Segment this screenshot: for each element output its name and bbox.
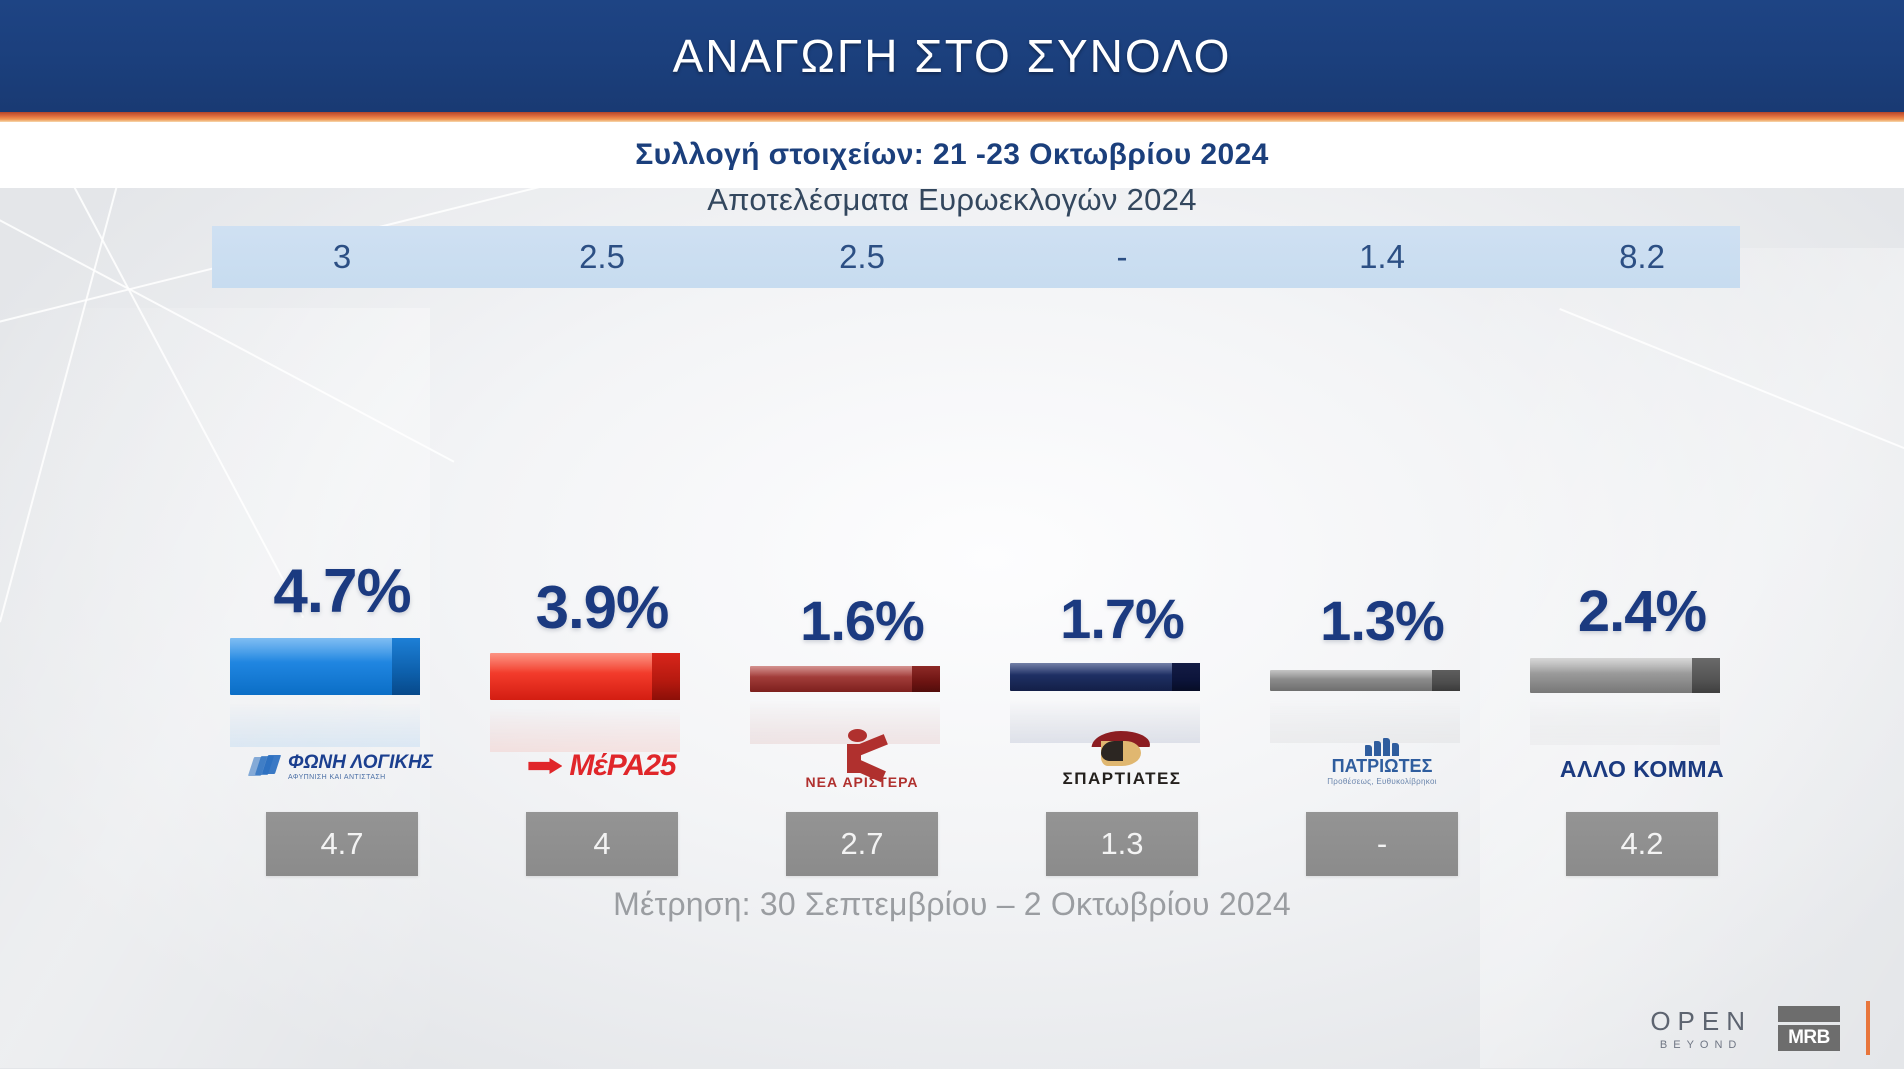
previous-value-1: 4	[526, 812, 678, 876]
party-logo-foni-logikis: ΦΩΝΗ ΛΟΓΙΚΗΣ ΑΦΥΠΝΙΣΗ ΚΑΙ ΑΝΤΙΣΤΑΣΗ	[212, 743, 472, 789]
beyond-logo-text: BEYOND	[1660, 1039, 1742, 1051]
chart-stage: Αποτελέσματα Ευρωεκλογών 2024 3 2.5 2.5 …	[0, 188, 1904, 1069]
fonilogikis-icon	[251, 755, 281, 777]
header-band: ΑΝΑΓΩΓΗ ΣΤΟ ΣΥΝΟΛΟ	[0, 0, 1904, 112]
bar-cap	[1172, 663, 1200, 691]
subheader-band: Συλλογή στοιχείων: 21 -23 Οκτωβρίου 2024	[0, 122, 1904, 188]
party-name-4: ΠΑΤΡΙΩΤΕΣ	[1332, 756, 1433, 777]
bar-5	[1530, 658, 1720, 693]
patriotes-flags-icon	[1365, 738, 1399, 756]
previous-value-5: 4.2	[1566, 812, 1718, 876]
bar-reflection	[230, 695, 420, 747]
bar-cap	[1432, 670, 1460, 691]
bar-cap	[392, 638, 420, 695]
measurement-note: Μέτρηση: 30 Σεπτεμβρίου – 2 Οκτωβρίου 20…	[0, 886, 1904, 923]
nea-aristera-figure-icon	[835, 729, 889, 773]
bar-4	[1270, 670, 1460, 691]
previous-value-0: 4.7	[266, 812, 418, 876]
percent-value-0: 4.7%	[212, 556, 472, 627]
party-logo-patriotes: ΠΑΤΡΙΩΤΕΣ Προθέσεως, Ευθυκολίβρηκοι	[1252, 733, 1512, 791]
bg-line	[0, 188, 120, 622]
party-name-5: ΑΛΛΟ ΚΟΜΜΑ	[1560, 756, 1724, 783]
party-logo-nea-aristera: ΝΕΑ ΑΡΙΣΤΕΡΑ	[732, 728, 992, 790]
euro-value-0: 3	[212, 226, 472, 288]
collection-dates: Συλλογή στοιχείων: 21 -23 Οκτωβρίου 2024	[635, 138, 1269, 172]
euro-value-2: 2.5	[732, 226, 992, 288]
euro-results-caption: Αποτελέσματα Ευρωεκλογών 2024	[0, 188, 1904, 218]
percent-value-5: 2.4%	[1512, 578, 1772, 645]
party-name-3: ΣΠΑΡΤΙΑΤΕΣ	[1063, 769, 1182, 789]
mrb-logo: MRB	[1778, 1006, 1840, 1051]
euro-value-1: 2.5	[472, 226, 732, 288]
party-subtitle-0: ΑΦΥΠΝΙΣΗ ΚΑΙ ΑΝΤΙΣΤΑΣΗ	[288, 774, 386, 781]
bar-0	[230, 638, 420, 695]
party-logo-mera25: ΜέΡΑ25	[472, 743, 732, 789]
party-logo-spartiates: ΣΠΑΡΤΙΑΤΕΣ	[992, 728, 1252, 790]
percent-value-1: 3.9%	[472, 573, 732, 642]
party-name-0: ΦΩΝΗ ΛΟΓΙΚΗΣ	[288, 752, 433, 774]
percent-value-2: 1.6%	[732, 588, 992, 653]
percent-value-4: 1.3%	[1252, 588, 1512, 653]
bar-cap	[912, 666, 940, 692]
bar-2	[750, 666, 940, 692]
mrb-logo-bar	[1778, 1006, 1840, 1022]
footer-accent-rule	[1866, 1001, 1870, 1055]
euro-value-3: -	[992, 226, 1252, 288]
bg-line	[1559, 308, 1904, 467]
party-logo-allo-komma: ΑΛΛΟ ΚΟΜΜΑ	[1512, 746, 1772, 792]
mrb-logo-text: MRB	[1778, 1025, 1840, 1051]
spartiates-helmet-icon	[1091, 730, 1153, 768]
euro-value-5: 8.2	[1512, 226, 1772, 288]
page-title: ΑΝΑΓΩΓΗ ΣΤΟ ΣΥΝΟΛΟ	[673, 29, 1232, 83]
mera25-arrow-icon	[528, 758, 562, 774]
party-subtitle-4: Προθέσεως, Ευθυκολίβρηκοι	[1327, 777, 1437, 786]
bar-3	[1010, 663, 1200, 691]
previous-value-4: -	[1306, 812, 1458, 876]
accent-rule	[0, 112, 1904, 122]
previous-value-3: 1.3	[1046, 812, 1198, 876]
footer-logos: OPEN BEYOND MRB	[1650, 1001, 1870, 1055]
bar-cap	[652, 653, 680, 700]
party-name-2: ΝΕΑ ΑΡΙΣΤΕΡΑ	[806, 774, 919, 790]
bar-cap	[1692, 658, 1720, 693]
percent-value-3: 1.7%	[992, 586, 1252, 651]
open-beyond-logo: OPEN BEYOND	[1650, 1006, 1752, 1051]
open-logo-text: OPEN	[1650, 1006, 1752, 1037]
previous-value-2: 2.7	[786, 812, 938, 876]
bar-reflection	[1530, 693, 1720, 745]
euro-value-4: 1.4	[1252, 226, 1512, 288]
bar-1	[490, 653, 680, 700]
party-name-1: ΜέΡΑ25	[569, 749, 675, 783]
